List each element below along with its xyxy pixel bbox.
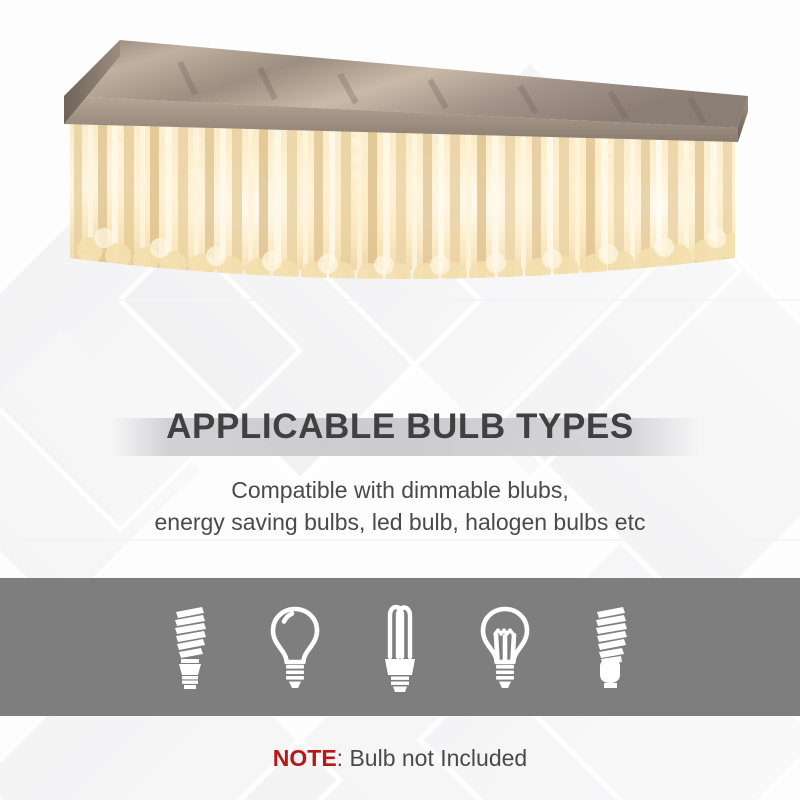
cfl-spiral-wide-base-glyph: [584, 603, 636, 691]
subtitle-block: Compatible with dimmable blubs, energy s…: [0, 474, 800, 538]
cfl-spiral-wide-base-bulb-icon: [580, 601, 640, 693]
note-keyword: NOTE: [273, 745, 337, 771]
product-infographic-page: APPLICABLE BULB TYPES Compatible with di…: [0, 0, 800, 800]
bulb-types-icon-band: [0, 578, 800, 716]
note-line: NOTE: Bulb not Included: [0, 745, 800, 772]
cfl-tube-bulb-glyph: [376, 601, 424, 693]
standard-bulb-glyph: [267, 603, 323, 691]
subtitle-line-2: energy saving bulbs, led bulb, halogen b…: [0, 506, 800, 538]
product-image-crystal-ceiling-light: [0, 0, 800, 300]
chandelier-illustration: [0, 0, 800, 300]
filament-bulb-outline-icon: [475, 601, 535, 693]
standard-bulb-outline-icon: [265, 601, 325, 693]
cfl-spiral-bulb-icon: [160, 601, 220, 693]
cfl-spiral-bulb-glyph: [164, 603, 216, 691]
note-separator: :: [337, 745, 350, 771]
bulb-icon-row: [160, 601, 640, 693]
section-title-container: APPLICABLE BULB TYPES: [0, 404, 800, 456]
subtitle-line-1: Compatible with dimmable blubs,: [0, 474, 800, 506]
page-title: APPLICABLE BULB TYPES: [0, 404, 800, 450]
note-text: Bulb not Included: [349, 745, 527, 771]
cfl-tube-bulb-icon: [370, 601, 430, 693]
filament-bulb-glyph: [477, 603, 533, 691]
